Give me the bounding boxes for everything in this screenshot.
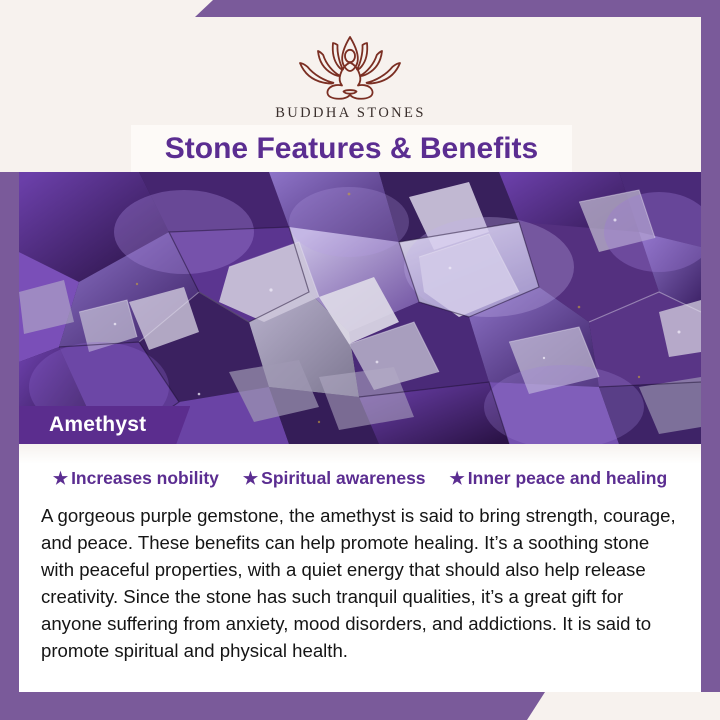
content-panel: ★ Increases nobility ★ Spiritual awarene… xyxy=(19,444,701,692)
star-icon: ★ xyxy=(450,470,465,487)
bottom-purple-band xyxy=(0,692,545,720)
right-purple-band xyxy=(701,17,720,692)
benefit-item-2: ★ Inner peace and healing xyxy=(450,468,668,489)
amethyst-crystal-cluster-photo xyxy=(19,172,701,444)
top-purple-band xyxy=(195,0,720,17)
panel-top-shade xyxy=(19,444,701,464)
stone-description: A gorgeous purple gemstone, the amethyst… xyxy=(33,503,687,665)
page-title-box: Stone Features & Benefits xyxy=(131,125,572,172)
hero-image: Amethyst xyxy=(19,172,701,444)
benefit-label: Inner peace and healing xyxy=(468,468,667,489)
benefit-item-0: ★ Increases nobility xyxy=(53,468,219,489)
left-purple-band xyxy=(0,172,19,702)
lotus-meditation-icon xyxy=(276,29,424,103)
star-icon: ★ xyxy=(243,470,258,487)
benefit-label: Spiritual awareness xyxy=(261,468,425,489)
benefits-row: ★ Increases nobility ★ Spiritual awarene… xyxy=(33,468,687,489)
page-title: Stone Features & Benefits xyxy=(165,132,538,166)
stone-name-label: Amethyst xyxy=(49,413,146,437)
benefit-label: Increases nobility xyxy=(71,468,219,489)
brand-logo: BUDDHA STONES xyxy=(275,29,426,122)
brand-name: BUDDHA STONES xyxy=(275,105,426,122)
stone-name-tag: Amethyst xyxy=(19,406,190,444)
star-icon: ★ xyxy=(53,470,68,487)
benefit-item-1: ★ Spiritual awareness xyxy=(243,468,426,489)
